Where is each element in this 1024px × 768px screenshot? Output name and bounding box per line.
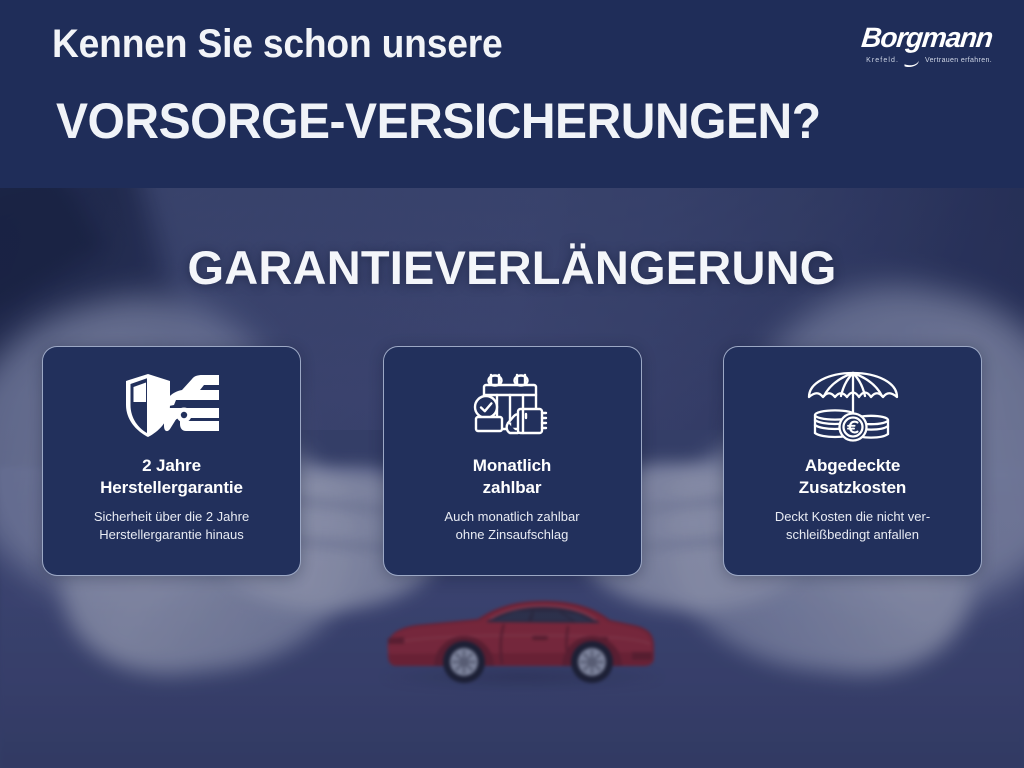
feature-card-monthly-payment[interactable]: Monatlich zahlbar Auch monatlich zahlbar… (383, 346, 642, 576)
logo-tagline-slogan: Vertrauen erfahren. (925, 57, 992, 64)
card-title: Monatlich zahlbar (473, 455, 551, 500)
swoosh-icon (904, 56, 920, 65)
promo-banner: Kennen Sie schon unsere VORSORGE-VERSICH… (0, 0, 1024, 768)
logo-brand-text: Borgmann (843, 24, 994, 52)
umbrella-coins-euro-icon (805, 369, 901, 445)
card-body: Deckt Kosten die nicht ver- schleißbedin… (775, 508, 930, 545)
card-body: Auch monatlich zahlbar ohne Zinsaufschla… (444, 508, 579, 545)
feature-card-extra-costs[interactable]: Abgedeckte Zusatzkosten Deckt Kosten die… (723, 346, 982, 576)
shield-car-icon (120, 369, 224, 445)
headline-line-1: Kennen Sie schon unsere (52, 22, 503, 67)
card-title: 2 Jahre Herstellergarantie (100, 455, 243, 500)
logo-tagline-city: Krefeld. (866, 57, 899, 64)
logo-tagline: Krefeld. Vertrauen erfahren. (844, 56, 992, 65)
headline-line-2: VORSORGE-VERSICHERUNGEN? (56, 92, 821, 150)
feature-card-warranty[interactable]: 2 Jahre Herstellergarantie Sicherheit üb… (42, 346, 301, 576)
borgmann-logo[interactable]: Borgmann Krefeld. Vertrauen erfahren. (844, 24, 992, 70)
main-heading: GARANTIEVERLÄNGERUNG (0, 240, 1024, 295)
header-band: Kennen Sie schon unsere VORSORGE-VERSICH… (0, 0, 1024, 188)
card-body: Sicherheit über die 2 Jahre Herstellerga… (94, 508, 249, 545)
calendar-payment-icon (468, 369, 556, 445)
card-title: Abgedeckte Zusatzkosten (799, 455, 906, 500)
feature-cards: 2 Jahre Herstellergarantie Sicherheit üb… (42, 346, 982, 576)
